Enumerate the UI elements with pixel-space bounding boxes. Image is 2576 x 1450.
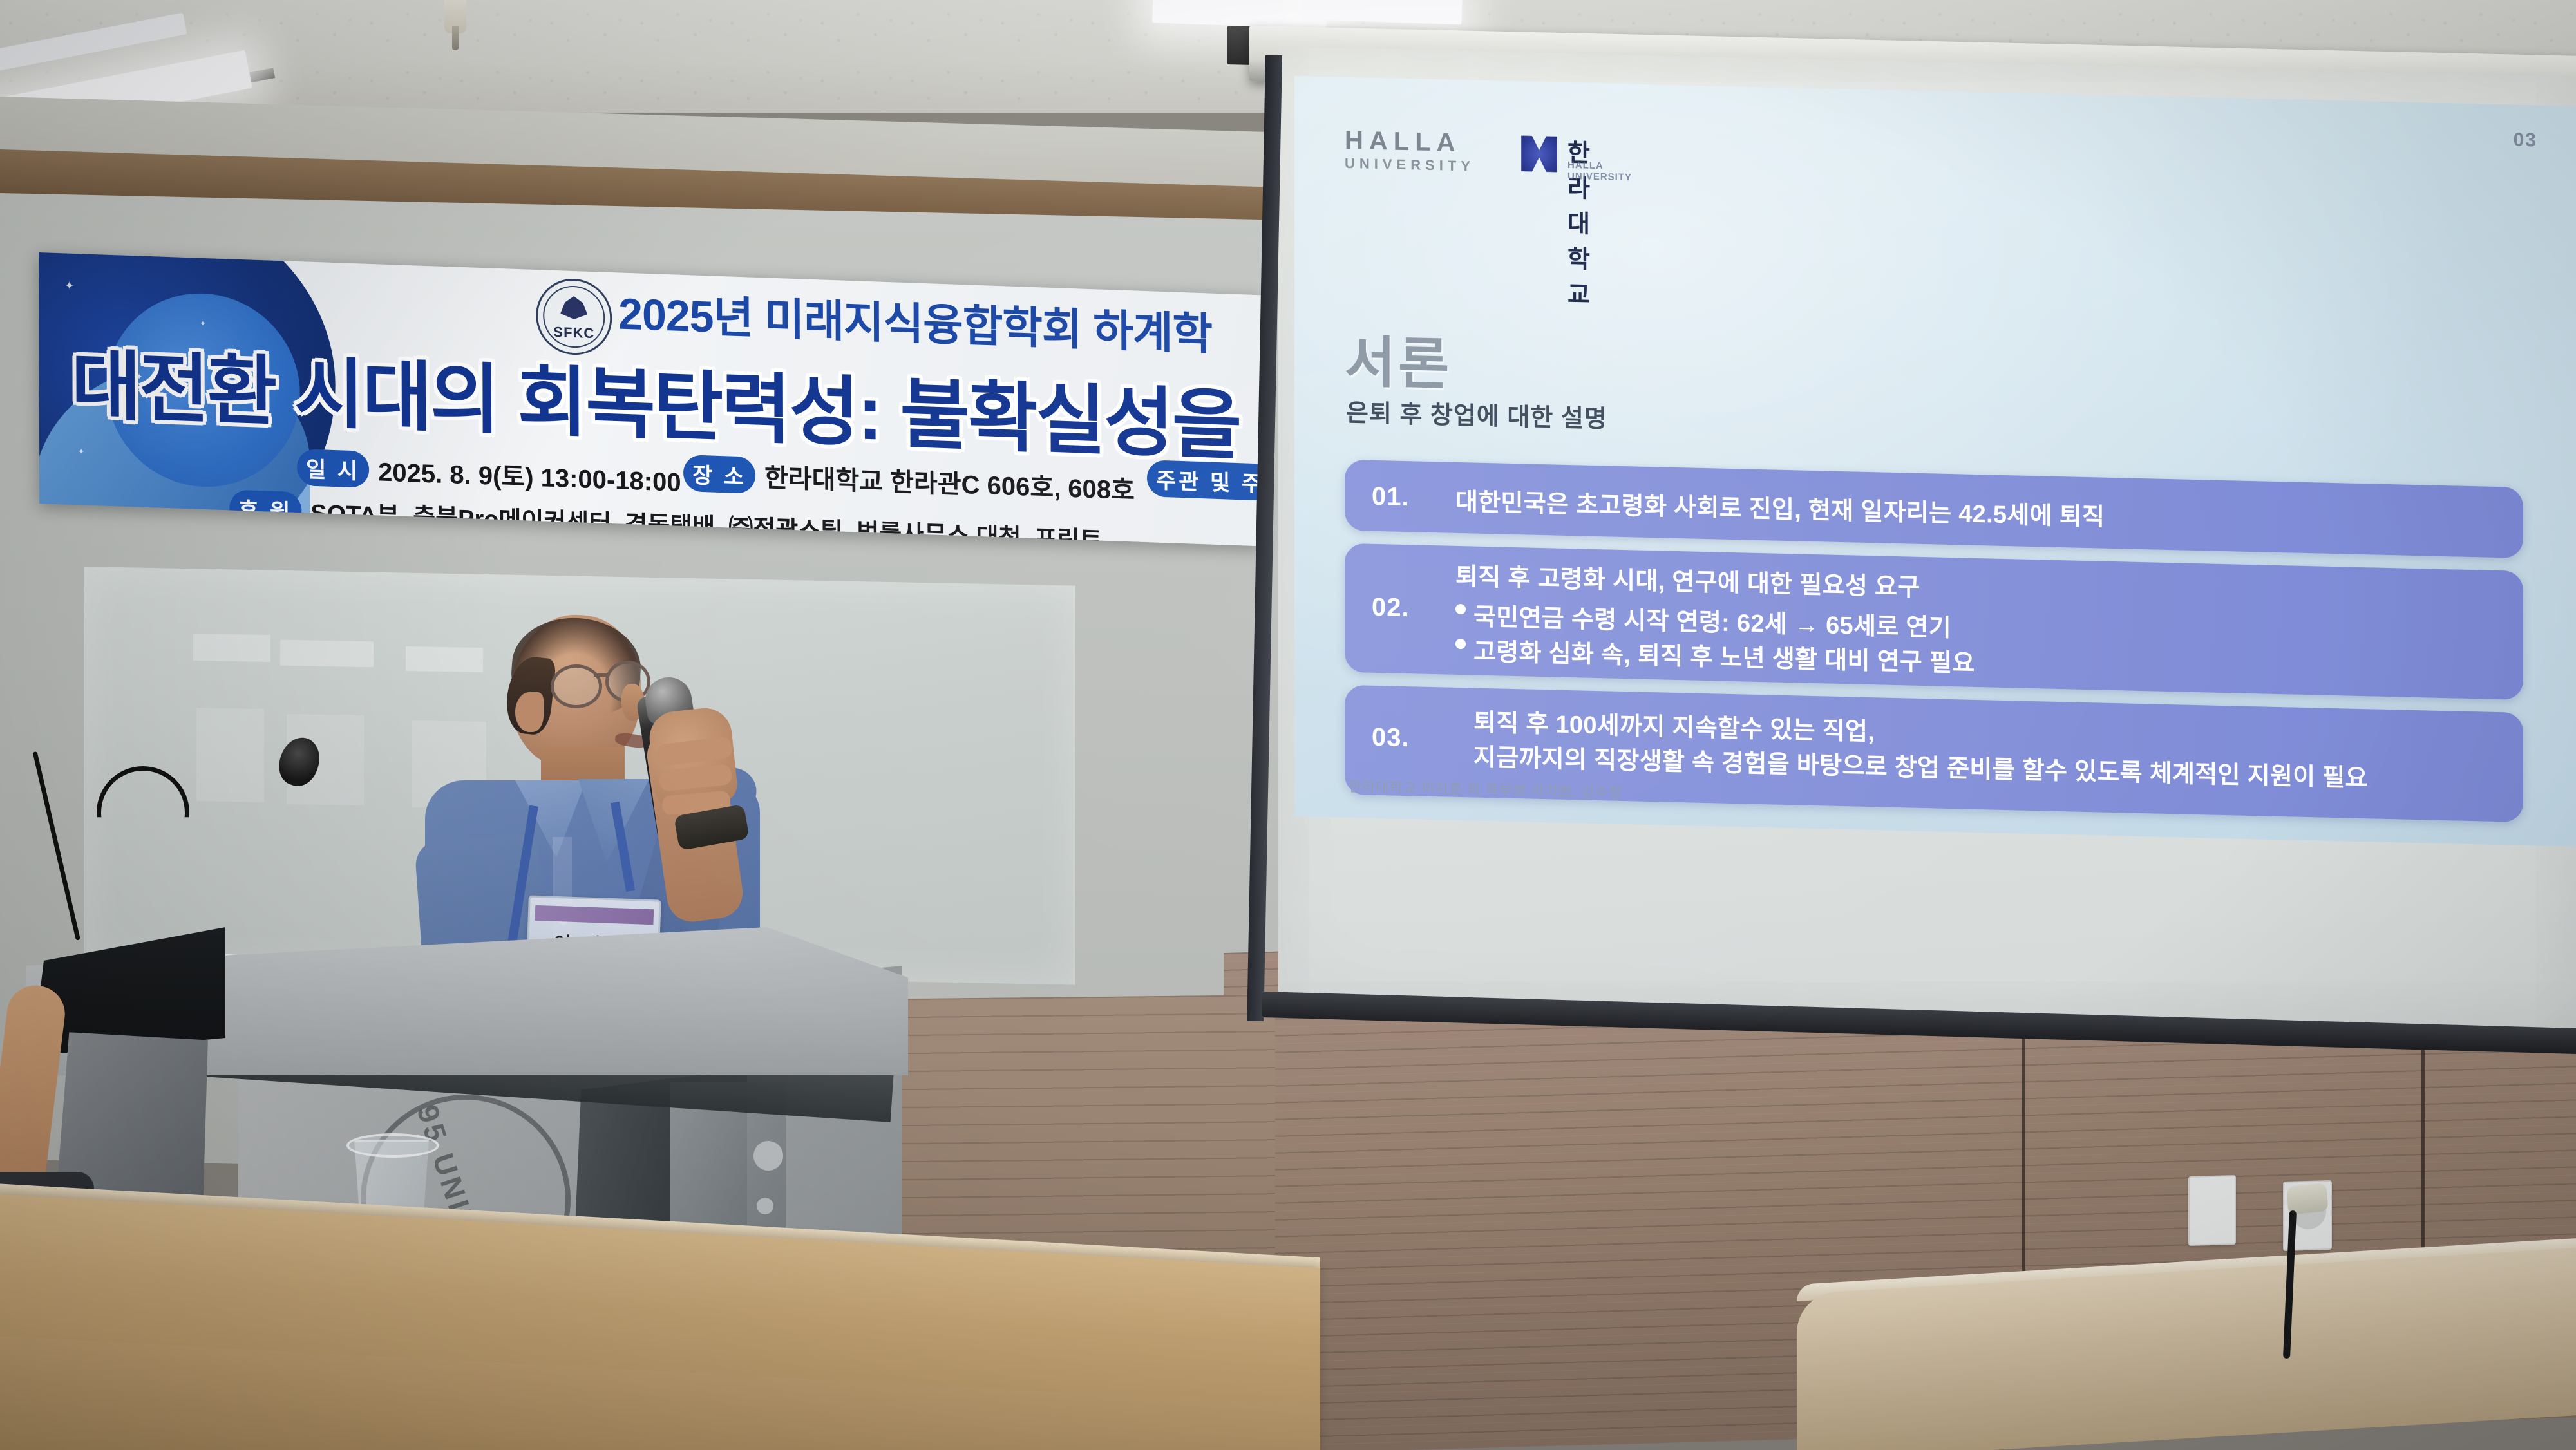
bullet-number: 01. bbox=[1372, 482, 1410, 512]
bullet-text: 대한민국은 초고령화 사회로 진입, 현재 일자리는 42.5세에 퇴직 bbox=[1455, 482, 2105, 532]
plastic-cup-rim bbox=[346, 1133, 439, 1158]
badge-header-strip bbox=[535, 905, 654, 925]
banner-place-label: 장 소 bbox=[683, 454, 755, 493]
bullet-text: 퇴직 후 고령화 시대, 연구에 대한 필요성 요구 bbox=[1455, 556, 1920, 603]
halla-logo-line1: HALLA bbox=[1345, 127, 1475, 156]
presenter-ear bbox=[515, 692, 544, 732]
banner-host-label: 주관 및 주 bbox=[1147, 460, 1263, 501]
seated-attendee-arm bbox=[0, 983, 68, 1201]
glasses-icon bbox=[551, 664, 602, 708]
banner-star-icon: ✦ bbox=[200, 319, 205, 328]
projected-slide: HALLA UNIVERSITY 한라대학교 HALLA UNIVERSITY … bbox=[1294, 76, 2576, 847]
banner-star-icon: ✦ bbox=[78, 447, 84, 456]
banner-star-icon: ✦ bbox=[64, 279, 74, 293]
bullet-dot-icon bbox=[1455, 639, 1466, 649]
bullet-number: 03. bbox=[1372, 723, 1410, 753]
whiteboard-reflection bbox=[406, 646, 483, 672]
halla-logo-line2: UNIVERSITY bbox=[1345, 156, 1475, 174]
wall-switch-plate[interactable] bbox=[2188, 1175, 2236, 1246]
halla-logo-english: HALLA UNIVERSITY bbox=[1345, 127, 1475, 174]
book-emblem-icon bbox=[558, 296, 590, 326]
conference-banner: ✦ ✦ ✦ ✦ SFKC 2025년 미래지식융합학회 하계학 대전환 시대의 … bbox=[39, 252, 1263, 546]
whiteboard-reflection bbox=[280, 640, 374, 668]
lecture-hall-photo: ✦ ✦ ✦ ✦ SFKC 2025년 미래지식융합학회 하계학 대전환 시대의 … bbox=[0, 0, 2576, 1450]
banner-date-label: 일 시 bbox=[297, 449, 369, 488]
slide-subtitle: 은퇴 후 창업에 대한 설명 bbox=[1346, 393, 1607, 435]
whiteboard-reflection bbox=[196, 708, 264, 802]
slide-title: 서론 bbox=[1345, 317, 1452, 400]
podium-control-button[interactable] bbox=[757, 1198, 773, 1214]
bullet-number: 02. bbox=[1372, 593, 1410, 623]
banner-date-value: 2025. 8. 9(토) 13:00-18:00 bbox=[378, 451, 681, 498]
bullet-dot-icon bbox=[1455, 604, 1466, 614]
slide-page-number: 03 bbox=[2514, 129, 2537, 152]
banner-date-row: 일 시2025. 8. 9(토) 13:00-18:00 bbox=[297, 448, 681, 499]
sprinkler-head-icon bbox=[444, 0, 466, 33]
halla-logo-kr-line2: HALLA UNIVERSITY bbox=[1567, 160, 1632, 183]
glasses-bridge bbox=[594, 673, 609, 677]
banner-host-row: 주관 및 주 bbox=[1147, 460, 1263, 501]
whiteboard-reflection bbox=[193, 634, 270, 662]
podium-control-knob[interactable] bbox=[753, 1141, 783, 1171]
